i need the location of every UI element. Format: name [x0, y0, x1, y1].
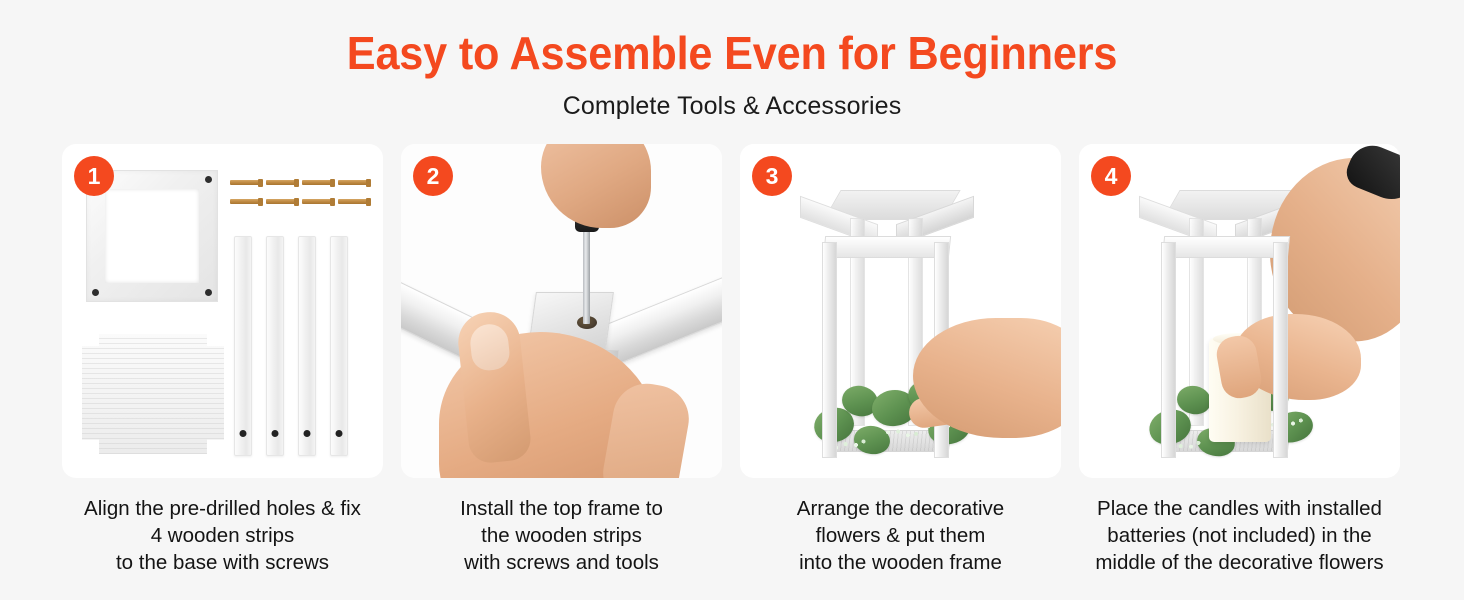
hand-holding-screwdriver: [541, 144, 651, 228]
wooden-strip-part: [298, 236, 316, 456]
lantern-leg-front-left: [822, 242, 837, 458]
caption-line: into the wooden frame: [731, 550, 1071, 577]
lantern-with-flowers-illustration: [740, 144, 1061, 478]
wooden-strip-part: [234, 236, 252, 456]
wooden-strip-part: [266, 236, 284, 456]
caption-line: Install the top frame to: [392, 496, 732, 523]
screw-icon: [338, 180, 369, 185]
screw-hole-icon: [92, 289, 99, 296]
screw-icon: [230, 180, 261, 185]
assembly-step-1: 1: [62, 144, 383, 577]
step-3-number-badge: 3: [752, 156, 792, 196]
step-2-caption: Install the top frame to the wooden stri…: [392, 496, 732, 577]
caption-line: Arrange the decorative: [731, 496, 1071, 523]
wooden-strip-part: [330, 236, 348, 456]
assembly-steps-row: 1: [62, 144, 1403, 577]
step-4-image-card: 4: [1079, 144, 1400, 478]
screw-icon: [266, 199, 297, 204]
caption-line: Place the candles with installed: [1070, 496, 1410, 523]
step-1-image-card: 1: [62, 144, 383, 478]
top-frame-front-rail: [1162, 236, 1290, 258]
screw-icon: [230, 199, 261, 204]
step-2-image-card: 2: [401, 144, 722, 478]
step-4-caption: Place the candles with installed batteri…: [1070, 496, 1410, 577]
caption-line: middle of the decorative flowers: [1070, 550, 1410, 577]
step-3-caption: Arrange the decorative flowers & put the…: [731, 496, 1071, 577]
lantern-with-candle-illustration: [1079, 144, 1400, 478]
caption-line: flowers & put them: [731, 523, 1071, 550]
lantern-leg-front-right: [1273, 242, 1288, 458]
page-subtitle: Complete Tools & Accessories: [0, 92, 1464, 121]
step-3-image-card: 3: [740, 144, 1061, 478]
caption-line: to the base with screws: [53, 550, 393, 577]
screw-hole-icon: [205, 289, 212, 296]
step-1-caption: Align the pre-drilled holes & fix 4 wood…: [53, 496, 393, 577]
wooden-base-board-part: [82, 334, 224, 454]
step-1-number-badge: 1: [74, 156, 114, 196]
screw-row: [230, 180, 370, 185]
screw-hole-icon: [205, 176, 212, 183]
exploded-parts-illustration: [62, 144, 383, 478]
wooden-strips-group: [234, 236, 348, 456]
header: Easy to Assemble Even for Beginners Comp…: [0, 0, 1464, 121]
assembly-step-3: 3: [740, 144, 1061, 577]
caption-line: with screws and tools: [392, 550, 732, 577]
screw-row: [230, 199, 370, 204]
screws-group: [230, 180, 370, 204]
screw-icon: [338, 199, 369, 204]
top-frame-front-rail: [823, 236, 951, 258]
screwdriver-shaft: [583, 228, 590, 324]
caption-line: Align the pre-drilled holes & fix: [53, 496, 393, 523]
screw-icon: [302, 180, 333, 185]
assembly-step-4: 4: [1079, 144, 1400, 577]
caption-line: the wooden strips: [392, 523, 732, 550]
lantern-leg-front-left: [1161, 242, 1176, 458]
screwdriver-photo-illustration: [401, 144, 722, 478]
assembly-step-2: 2 Install the top frame to the wooden st…: [401, 144, 722, 577]
caption-line: batteries (not included) in the: [1070, 523, 1410, 550]
step-2-number-badge: 2: [413, 156, 453, 196]
screw-icon: [302, 199, 333, 204]
screw-icon: [266, 180, 297, 185]
caption-line: 4 wooden strips: [53, 523, 393, 550]
step-4-number-badge: 4: [1091, 156, 1131, 196]
page-title: Easy to Assemble Even for Beginners: [44, 28, 1420, 80]
